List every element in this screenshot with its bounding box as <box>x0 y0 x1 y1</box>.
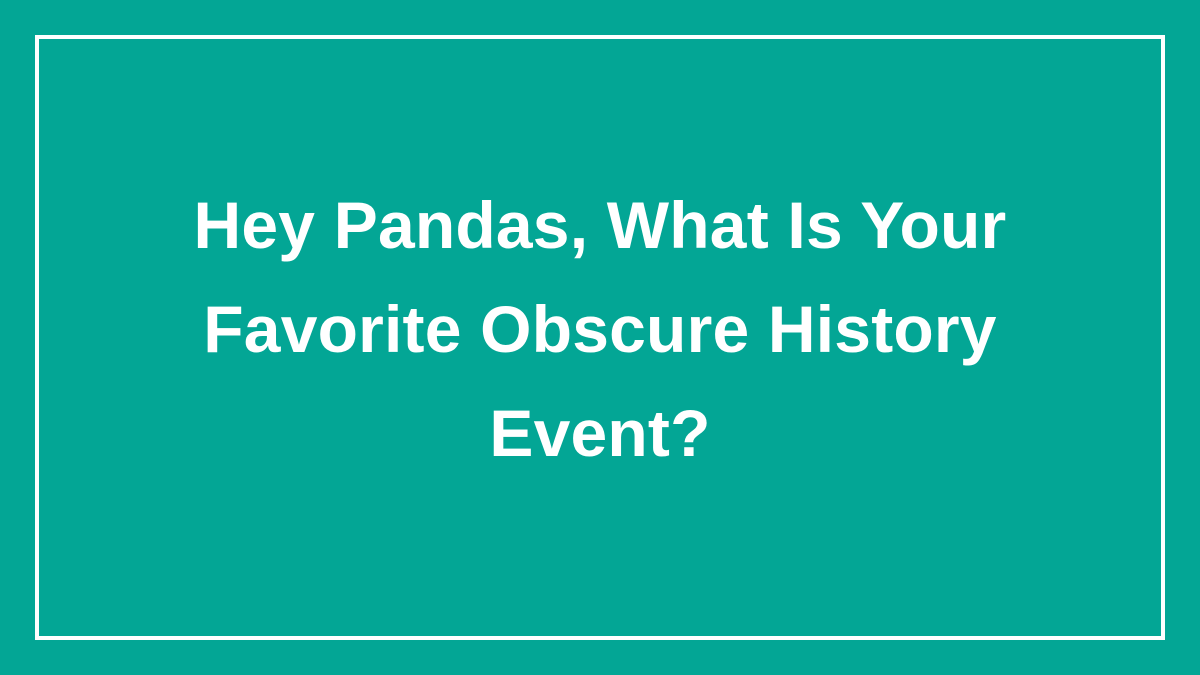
poster-canvas: Hey Pandas, What Is Your Favorite Obscur… <box>0 0 1200 675</box>
headline-block: Hey Pandas, What Is Your Favorite Obscur… <box>0 0 1200 675</box>
headline-line-3: Event? <box>0 381 1200 485</box>
headline-line-2: Favorite Obscure History <box>0 277 1200 381</box>
headline-line-1: Hey Pandas, What Is Your <box>0 173 1200 277</box>
